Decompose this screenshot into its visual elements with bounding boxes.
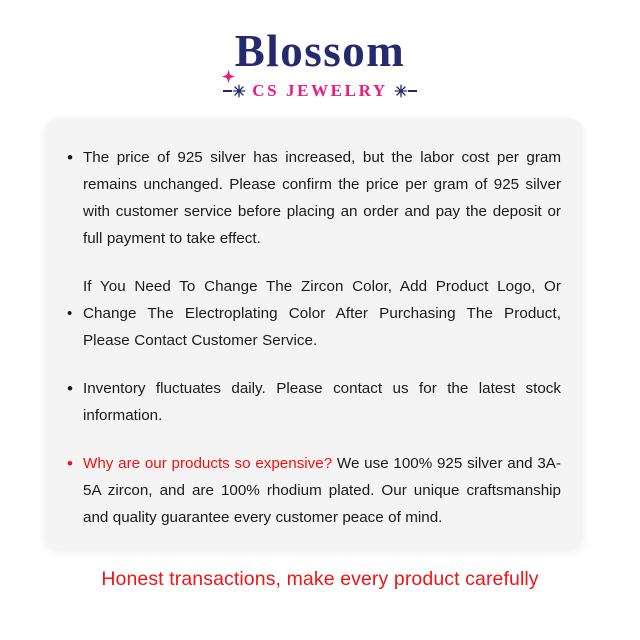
note-highlight: Why are our products so expensive?: [83, 455, 332, 472]
ornament-dash-right: [408, 90, 417, 92]
notice-list: • The price of 925 silver has increased,…: [67, 144, 561, 531]
list-item: • Why are our products so expensive? We …: [67, 450, 561, 531]
list-item: • Inventory fluctuates daily. Please con…: [67, 375, 561, 429]
footer-slogan: Honest transactions, make every product …: [0, 568, 640, 591]
brand-tagline-row: CS JEWELRY: [0, 81, 640, 101]
snowflake-ornament-icon-left: [223, 84, 246, 98]
brand-name: Blossom: [235, 26, 406, 76]
sparkle-diamond-icon: [222, 43, 235, 56]
bullet-icon: •: [67, 273, 83, 354]
list-item: • If You Need To Change The Zircon Color…: [67, 273, 561, 354]
note-text: The price of 925 silver has increased, b…: [83, 144, 561, 252]
ornament-dash-left: [223, 90, 232, 92]
brand-tagline: CS JEWELRY: [252, 81, 387, 101]
note-text: If You Need To Change The Zircon Color, …: [83, 273, 561, 354]
note-text: Why are our products so expensive? We us…: [83, 450, 561, 531]
brand-header: Blossom CS JEWELRY: [0, 0, 640, 101]
list-item: • The price of 925 silver has increased,…: [67, 144, 561, 252]
notice-card: • The price of 925 silver has increased,…: [45, 118, 583, 548]
bullet-icon: •: [67, 144, 83, 252]
brand-name-text: Blossom: [235, 26, 406, 76]
bullet-icon: •: [67, 375, 83, 429]
note-text: Inventory fluctuates daily. Please conta…: [83, 375, 561, 429]
bullet-icon: •: [67, 450, 83, 531]
snowflake-ornament-icon-right: [394, 84, 417, 98]
